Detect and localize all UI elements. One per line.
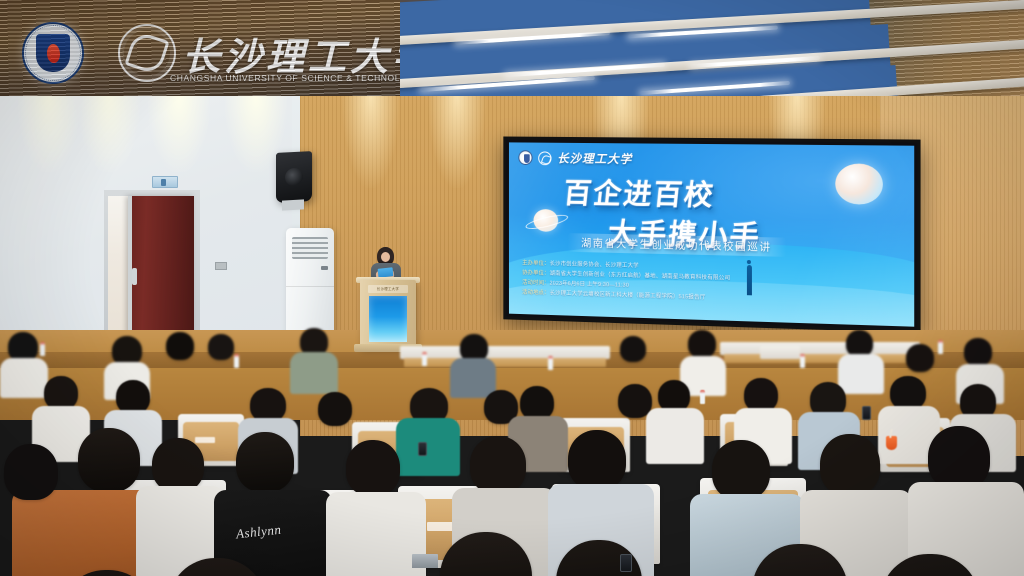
laptop[interactable] xyxy=(412,554,438,568)
student-head xyxy=(152,438,204,492)
student-head xyxy=(318,392,352,426)
ac-display xyxy=(321,266,328,270)
student-torso xyxy=(0,358,48,398)
student-head xyxy=(236,432,294,492)
wall-speaker xyxy=(276,151,312,203)
student-torso xyxy=(396,418,460,476)
speaker-mount xyxy=(282,199,304,210)
screen-association-seal-icon xyxy=(518,150,532,165)
info-label: 活动时间： xyxy=(522,280,549,287)
student-head xyxy=(166,332,194,360)
student-head xyxy=(4,444,58,500)
student-head xyxy=(116,380,150,414)
water-bottle xyxy=(700,390,705,404)
student-torso xyxy=(646,408,704,464)
info-label: 活动地点： xyxy=(522,290,549,297)
info-label: 协办单位： xyxy=(522,270,549,277)
student-torso xyxy=(12,490,154,576)
wall-uplight xyxy=(342,96,400,188)
student-head xyxy=(712,440,770,500)
exit-sign-icon xyxy=(152,176,178,188)
desk-card xyxy=(760,346,800,359)
podium-plaque: 长沙理工大学 xyxy=(368,285,408,293)
student-torso xyxy=(326,492,426,576)
info-value: 2023年6月6日 上午9:30—11:30 xyxy=(550,281,629,289)
student-head xyxy=(906,344,934,372)
water-bottle xyxy=(938,340,943,354)
water-bottle xyxy=(548,356,553,370)
screen-info-block: 主办单位：长沙市创业服务协会、长沙理工大学 协办单位：湖南省大学生创新创业（东方… xyxy=(522,259,730,304)
screen-university-name: 长沙理工大学 xyxy=(557,150,632,168)
student-torso xyxy=(290,352,338,394)
ac-seam xyxy=(286,286,334,287)
screen-content: 长沙理工大学 百企进百校 大手携小手 湖南省大学生创业成功代表校园巡讲 主办单位… xyxy=(509,142,914,326)
student-head xyxy=(470,436,526,494)
banner-university-name-en: CHANGSHA UNIVERSITY OF SCIENCE & TECHNOL… xyxy=(170,73,400,83)
smartphone[interactable] xyxy=(620,554,632,572)
student-head xyxy=(964,338,992,366)
info-label: 主办单位： xyxy=(522,260,549,267)
smartphone[interactable] xyxy=(418,442,427,456)
student-head xyxy=(520,386,554,420)
student-head xyxy=(620,336,646,362)
university-logo-icon xyxy=(118,24,176,82)
student-head xyxy=(890,376,926,410)
water-bottle xyxy=(422,352,427,366)
lecture-hall-photo: 长沙理工大学 CHANGSHA UNIVERSITY OF SCIENCE & … xyxy=(0,0,1024,576)
student-head xyxy=(44,376,78,410)
water-bottle xyxy=(800,354,805,368)
student-head xyxy=(928,426,990,490)
student-head xyxy=(250,388,286,422)
presentation-screen: 长沙理工大学 百企进百校 大手携小手 湖南省大学生创业成功代表校园巡讲 主办单位… xyxy=(503,137,920,334)
desk-surface xyxy=(404,358,606,367)
screen-logo-group: 长沙理工大学 xyxy=(518,149,632,167)
student-head xyxy=(846,330,873,357)
person-silhouette-icon xyxy=(747,265,752,295)
orange-drink-cup xyxy=(886,436,897,450)
water-bottle xyxy=(234,354,239,368)
student-head xyxy=(688,330,716,358)
presenter-face xyxy=(381,252,390,262)
audience-area: Ashlynn xyxy=(0,318,1024,576)
student-head xyxy=(346,440,400,496)
screen-university-logo-icon xyxy=(538,151,551,165)
smartphone[interactable] xyxy=(862,406,871,420)
wall-downlight xyxy=(78,96,140,172)
student-head xyxy=(568,430,626,490)
seat-number-tag xyxy=(195,437,215,443)
association-seal-icon xyxy=(22,22,84,84)
info-value: 长沙市创业服务协会、长沙理工大学 xyxy=(550,261,639,269)
power-outlet xyxy=(215,262,227,270)
desk-surface xyxy=(724,354,916,363)
student-torso xyxy=(450,358,496,398)
student-head xyxy=(744,378,778,412)
ac-vent xyxy=(292,237,328,259)
door-handle[interactable] xyxy=(132,268,137,285)
student-torso xyxy=(838,354,884,394)
wall-downlight xyxy=(18,96,80,172)
wall-downlight xyxy=(148,96,210,172)
water-bottle xyxy=(40,342,45,356)
flame-icon xyxy=(46,43,60,63)
student-head xyxy=(78,428,140,492)
wall-banner: 长沙理工大学 CHANGSHA UNIVERSITY OF SCIENCE & … xyxy=(0,0,400,108)
wall-uplight xyxy=(428,96,486,188)
student-head xyxy=(208,334,234,360)
student-head xyxy=(820,434,880,496)
